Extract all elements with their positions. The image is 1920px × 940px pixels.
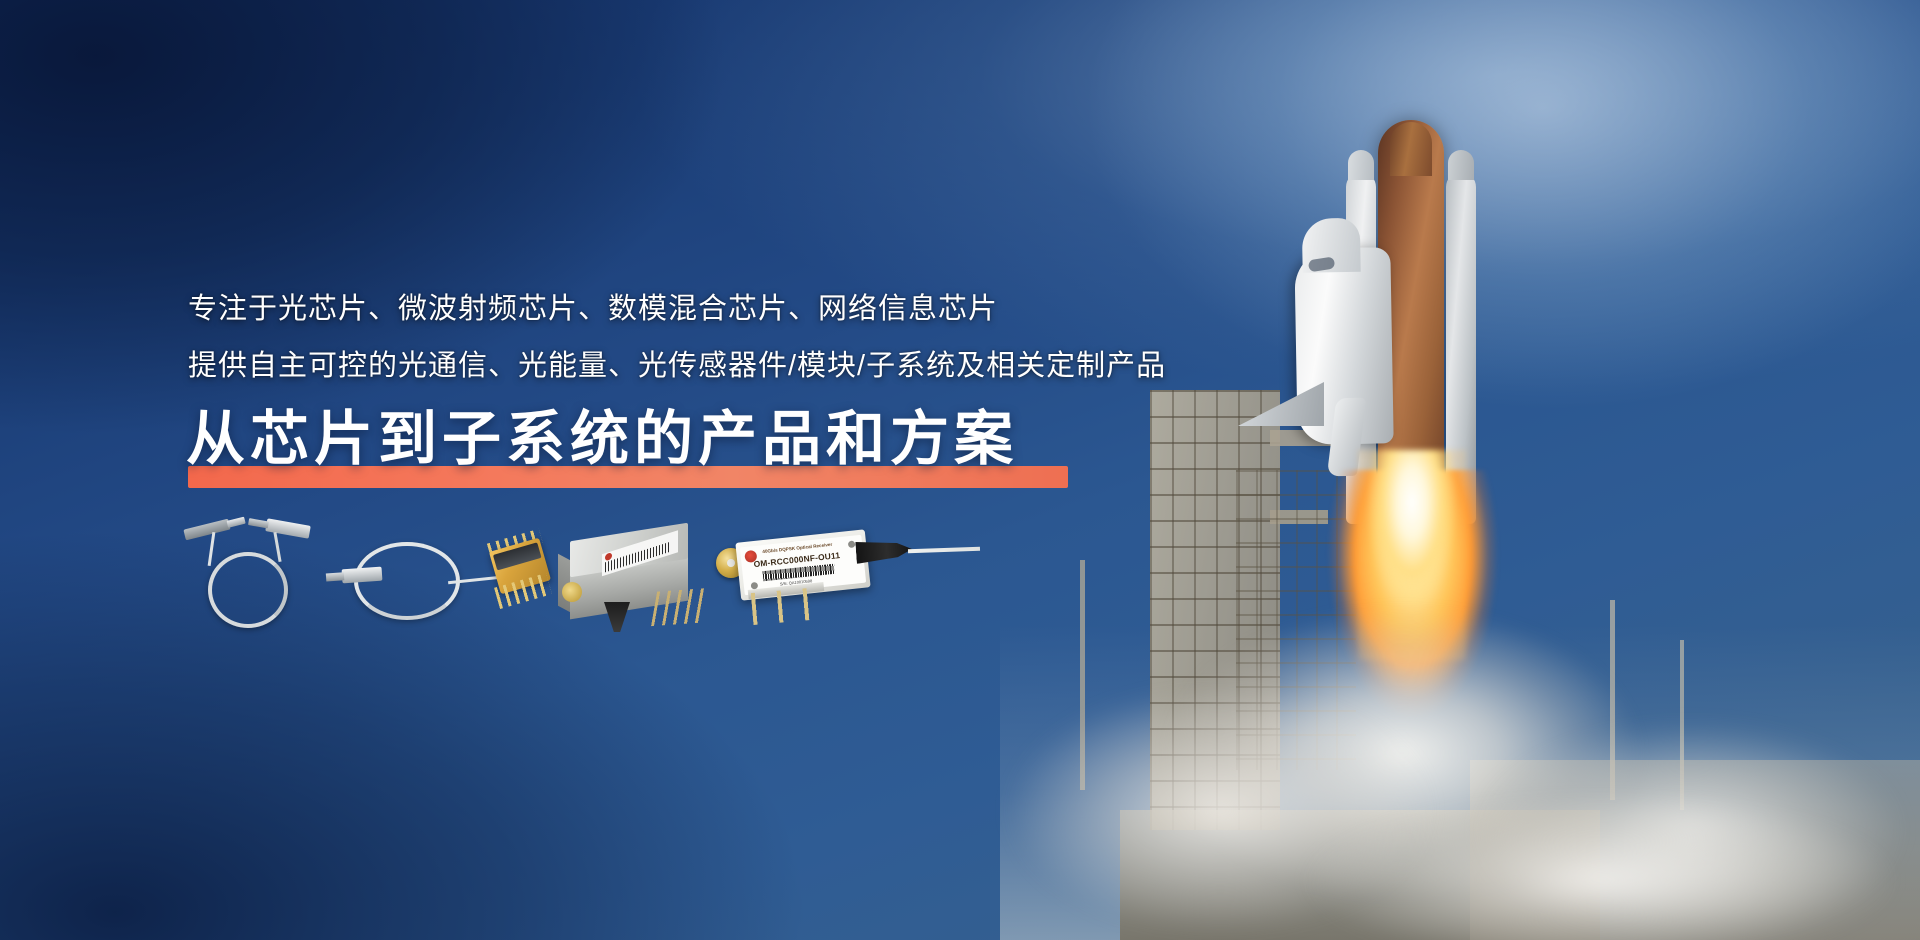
- fiber-connector-right: [265, 518, 311, 538]
- product-optical-receiver-module: 40Gb/s DQPSK Optical Receiver OM-RCC000N…: [720, 518, 980, 638]
- rocket-launch-scene: [1000, 0, 1920, 940]
- hero-subtitle-line-1: 专注于光芯片、微波射频芯片、数模混合芯片、网络信息芯片: [188, 291, 998, 327]
- hero-headline-wrap: 从芯片到子系统的产品和方案: [186, 410, 1018, 469]
- product-photo-row: 40Gb/s DQPSK Optical Receiver OM-RCC000N…: [180, 518, 1060, 638]
- receiver-pins: [751, 587, 824, 625]
- fiber-connector-left: [183, 519, 230, 541]
- product-butterfly-laser-diode-module: [348, 526, 548, 636]
- screw-icon-top-right: [848, 540, 856, 548]
- module-pins: [651, 588, 711, 626]
- receiver-fiber-pigtail: [908, 547, 980, 554]
- product-metal-housing-optical-module: [558, 524, 708, 634]
- hero-headline: 从芯片到子系统的产品和方案: [186, 410, 1018, 469]
- module-sma-connector: [562, 582, 582, 602]
- hero-content: 专注于光芯片、微波射频芯片、数模混合芯片、网络信息芯片 提供自主可控的光通信、光…: [0, 0, 1100, 940]
- smoke-plume-ground: [1250, 780, 1920, 940]
- fiber-coil: [208, 552, 288, 628]
- product-fiber-patch-cord-coil: [180, 518, 340, 633]
- module-fiber-boot: [604, 602, 630, 632]
- fiber-lead-left: [208, 532, 216, 566]
- hero-banner: 专注于光芯片、微波射频芯片、数模混合芯片、网络信息芯片 提供自主可控的光通信、光…: [0, 0, 1920, 940]
- fiber-lead-right: [273, 532, 281, 562]
- fiber-connector: [342, 567, 383, 584]
- hero-subtitle-line-2: 提供自主可控的光通信、光能量、光传感器件/模块/子系统及相关定制产品: [188, 348, 1166, 384]
